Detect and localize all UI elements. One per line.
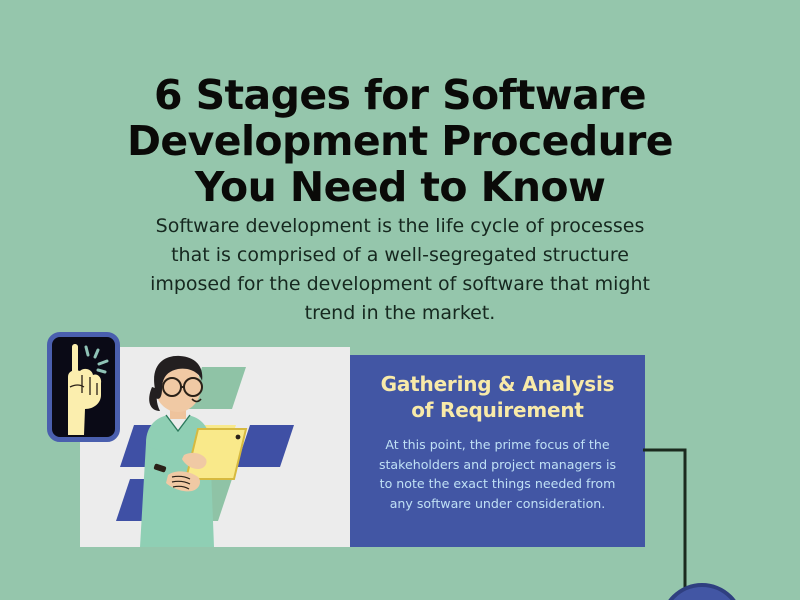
- title-line-3: You Need to Know: [0, 164, 800, 210]
- card-heading-line-2: of Requirement: [364, 397, 631, 423]
- title-line-2: Development Procedure: [0, 118, 800, 164]
- card-body-line-4: any software under consideration.: [364, 494, 631, 514]
- pointing-up-hand-icon: [52, 337, 115, 437]
- title-line-1: 6 Stages for Software: [0, 72, 800, 118]
- card-body: At this point, the prime focus of the st…: [364, 435, 631, 513]
- card-heading-line-1: Gathering & Analysis: [364, 371, 631, 397]
- infographic-canvas: 6 Stages for Software Development Proced…: [0, 0, 800, 600]
- card-body-line-1: At this point, the prime focus of the: [364, 435, 631, 455]
- subtitle-line-1: Software development is the life cycle o…: [150, 212, 650, 241]
- woman-with-tablet-illustration: [80, 347, 350, 547]
- card-body-line-2: stakeholders and project managers is: [364, 455, 631, 475]
- card-body-line-3: to note the exact things needed from: [364, 474, 631, 494]
- subtitle-line-4: trend in the market.: [150, 299, 650, 328]
- card-heading: Gathering & Analysis of Requirement: [364, 371, 631, 423]
- page-title: 6 Stages for Software Development Proced…: [0, 72, 800, 210]
- step-badge: [47, 332, 120, 442]
- page-subtitle: Software development is the life cycle o…: [150, 212, 650, 328]
- subtitle-line-3: imposed for the development of software …: [150, 270, 650, 299]
- elbow-connector-line: [643, 448, 691, 600]
- subtitle-line-2: that is comprised of a well-segregated s…: [150, 241, 650, 270]
- step-card: Gathering & Analysis of Requirement At t…: [350, 355, 645, 547]
- illustration-panel: [80, 347, 350, 547]
